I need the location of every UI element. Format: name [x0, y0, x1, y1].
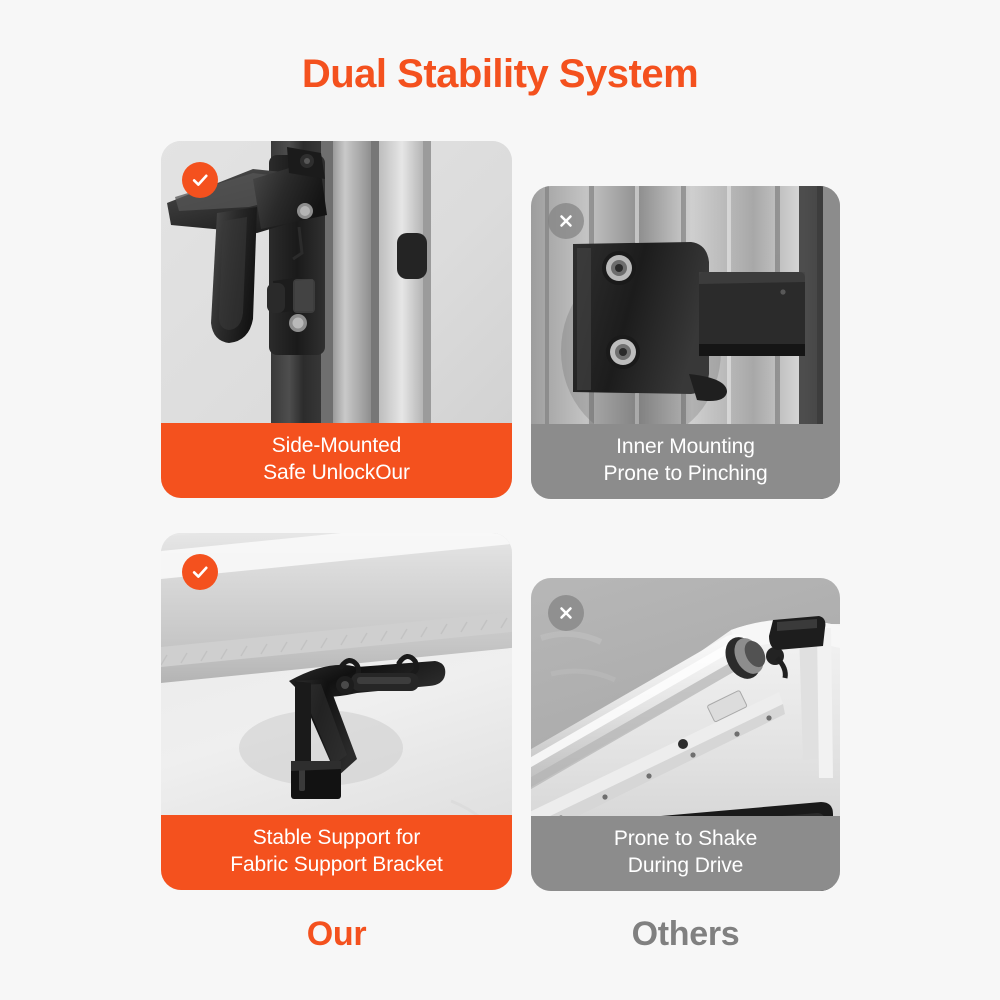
cross-icon: [548, 203, 584, 239]
comparison-card-top-right: Inner Mounting Prone to Pinching: [531, 186, 840, 499]
comparison-card-top-left: Side-Mounted Safe UnlockOur: [161, 141, 512, 498]
footer-label-others: Others: [531, 915, 840, 954]
caption-line-2: Safe UnlockOur: [169, 460, 504, 486]
card-caption-bottom-right: Prone to Shake During Drive: [531, 816, 840, 891]
footer-label-ours: Our: [161, 915, 512, 954]
comparison-card-bottom-right: Prone to Shake During Drive: [531, 578, 840, 891]
comparison-card-bottom-left: Stable Support for Fabric Support Bracke…: [161, 533, 512, 890]
caption-line-1: Inner Mounting: [616, 435, 755, 458]
caption-line-2: During Drive: [539, 853, 832, 879]
card-caption-top-right: Inner Mounting Prone to Pinching: [531, 424, 840, 499]
caption-line-2: Fabric Support Bracket: [169, 852, 504, 878]
caption-line-1: Side-Mounted: [272, 434, 402, 457]
caption-line-1: Stable Support for: [253, 826, 420, 849]
check-icon: [182, 162, 218, 198]
infographic-page: Dual Stability System: [0, 0, 1000, 1000]
check-icon: [182, 554, 218, 590]
caption-line-1: Prone to Shake: [614, 827, 757, 850]
page-title: Dual Stability System: [0, 52, 1000, 97]
card-caption-top-left: Side-Mounted Safe UnlockOur: [161, 423, 512, 498]
caption-line-2: Prone to Pinching: [539, 461, 832, 487]
card-caption-bottom-left: Stable Support for Fabric Support Bracke…: [161, 815, 512, 890]
cross-icon: [548, 595, 584, 631]
